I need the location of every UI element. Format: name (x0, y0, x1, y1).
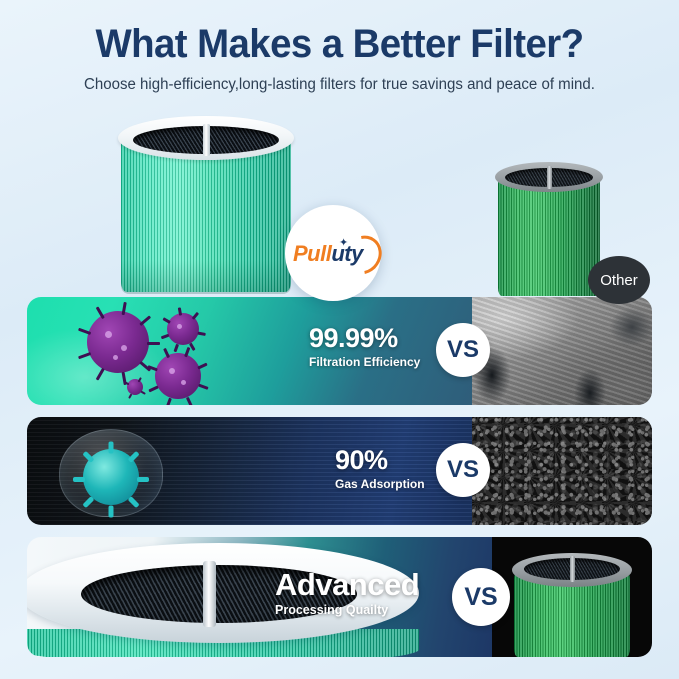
brand-panel-filtration: 99.99% Filtration Efficiency (27, 297, 472, 405)
brand-filter-top-ring (118, 116, 294, 160)
brand-filter-handle (203, 124, 210, 156)
brand-filter-handle-closeup (203, 561, 216, 627)
header: What Makes a Better Filter? Choose high-… (0, 0, 679, 94)
brand-stat-filtration: 99.99% Filtration Efficiency (309, 325, 420, 369)
competitor-filter-pleats (498, 176, 600, 296)
brand-logo-text-first: Pull (293, 241, 331, 266)
virus-icon (155, 353, 201, 399)
page-subtitle: Choose high-efficiency,long-lasting filt… (10, 67, 669, 94)
brand-stat-label: Filtration Efficiency (309, 355, 420, 369)
competitor-filter-handle-closeup (570, 556, 575, 582)
competitor-panel-filtration: 87% Filtration Efficiency (472, 297, 652, 405)
competitor-filter-closeup (514, 551, 630, 657)
infographic-page: What Makes a Better Filter? Choose high-… (0, 0, 679, 679)
comparison-row-gas-adsorption: 90% Gas Adsorption 10% Gas Adsorption (27, 417, 652, 525)
competitor-filter-image (498, 158, 600, 298)
competitor-panel-gas: 10% Gas Adsorption (472, 417, 652, 525)
brand-stat-quality: Advanced Processing Quailty (275, 569, 419, 618)
brand-filter-image (121, 110, 291, 302)
brand-stat-value: 99.99% (309, 325, 420, 352)
vs-badge: VS (452, 568, 510, 626)
brand-panel-quality: Advanced Processing Quailty (27, 537, 492, 657)
virus-icon (167, 313, 199, 345)
brand-filter-shadow (121, 260, 291, 294)
vs-badge: VS (436, 443, 490, 497)
competitor-filter-handle (547, 166, 552, 189)
virus-icon (87, 311, 149, 373)
comparison-row-filtration-efficiency: 99.99% Filtration Efficiency 87% Filtrat… (27, 297, 652, 405)
competitor-badge: Other (588, 256, 650, 304)
vs-badge: VS (436, 323, 490, 377)
competitor-filter-top-ring (495, 162, 603, 192)
brand-panel-gas: 90% Gas Adsorption (27, 417, 472, 525)
competitor-panel-quality: Poor Processing Quailty (492, 537, 652, 657)
brand-stat-label: Processing Quailty (275, 603, 419, 618)
virus-icon (83, 449, 139, 505)
brand-logo: Pulluty ✦ (291, 233, 375, 273)
brand-stat-label: Gas Adsorption (335, 477, 425, 491)
brand-stat-value: 90% (335, 447, 425, 474)
comparison-row-processing-quality: Advanced Processing Quailty Poor Process… (27, 537, 652, 657)
virus-icon (127, 379, 143, 395)
competitor-filter-top-ring-closeup (512, 553, 632, 587)
page-title: What Makes a Better Filter? (14, 0, 666, 67)
brand-stat-value: Advanced (275, 569, 419, 600)
brand-stat-gas: 90% Gas Adsorption (335, 447, 425, 491)
brand-logo-badge: Pulluty ✦ (285, 205, 381, 301)
